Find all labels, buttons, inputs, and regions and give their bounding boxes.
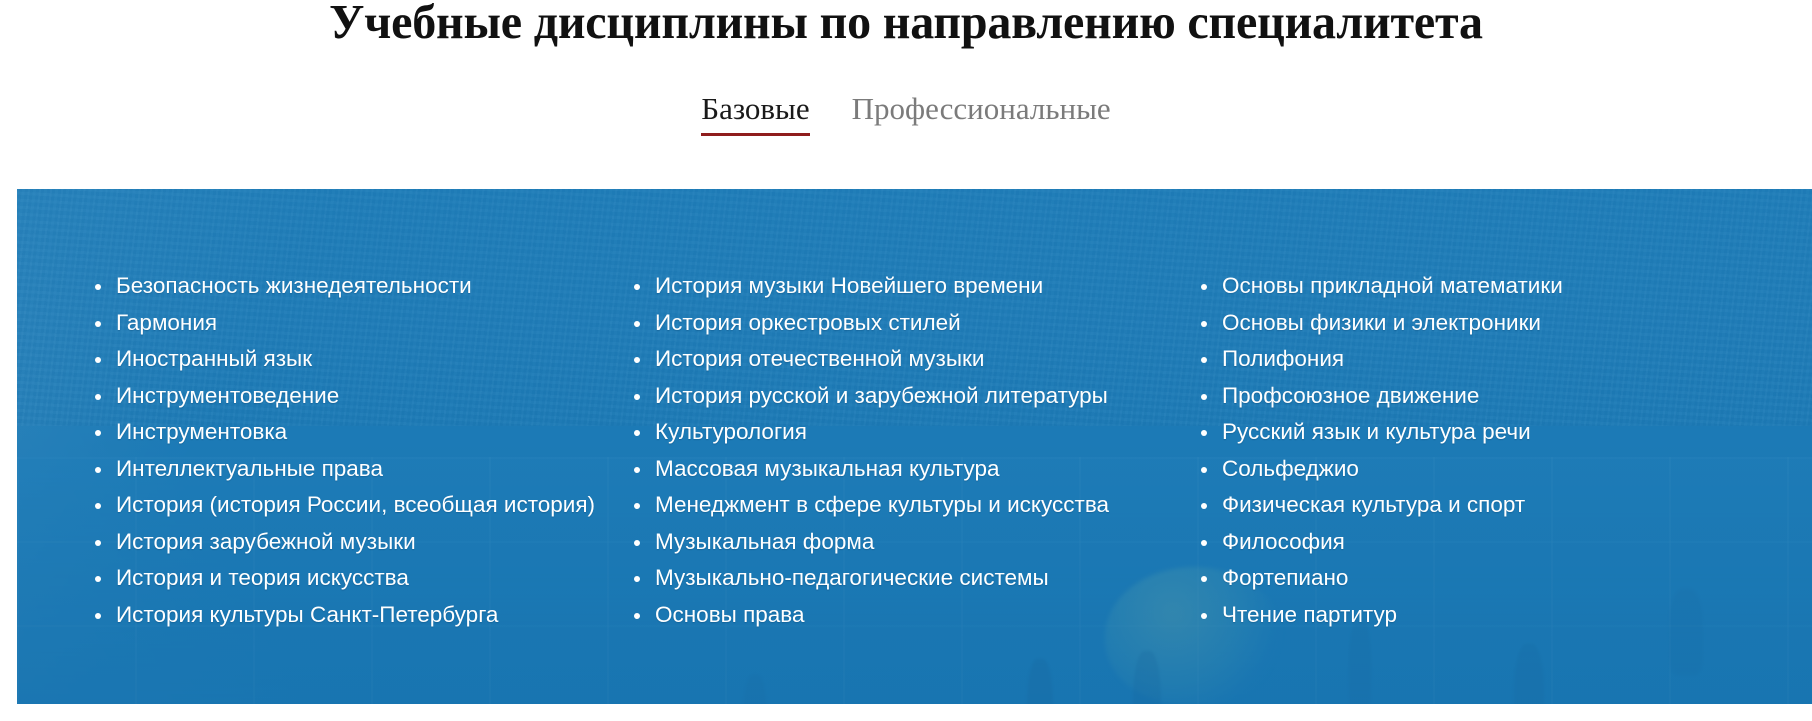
discipline-list-2: История музыки Новейшего времени История… — [634, 268, 1167, 633]
list-item[interactable]: Основы прикладной математики — [1201, 268, 1767, 305]
list-item[interactable]: История (история России, всеобщая истори… — [95, 487, 587, 524]
list-item[interactable]: Иностранный язык — [95, 341, 587, 378]
list-item[interactable]: Инструментоведение — [95, 378, 587, 415]
list-item[interactable]: Музыкально-педагогические системы — [634, 560, 1167, 597]
list-item[interactable]: Чтение партитур — [1201, 597, 1767, 634]
disciplines-columns: Безопасность жизнедеятельности Гармония … — [17, 189, 1812, 704]
list-item[interactable]: История оркестровых стилей — [634, 305, 1167, 342]
tab-professional[interactable]: Профессиональные — [852, 92, 1111, 136]
list-item[interactable]: Фортепиано — [1201, 560, 1767, 597]
list-item[interactable]: Инструментовка — [95, 414, 587, 451]
list-item[interactable]: Физическая культура и спорт — [1201, 487, 1767, 524]
list-item[interactable]: История зарубежной музыки — [95, 524, 587, 561]
discipline-category-tabs: Базовые Профессиональные — [0, 92, 1812, 136]
list-item[interactable]: Культурология — [634, 414, 1167, 451]
list-item[interactable]: История культуры Санкт-Петербурга — [95, 597, 587, 634]
list-item[interactable]: Сольфеджио — [1201, 451, 1767, 488]
list-item[interactable]: Массовая музыкальная культура — [634, 451, 1167, 488]
list-item[interactable]: Менеджмент в сфере культуры и искусства — [634, 487, 1167, 524]
list-item[interactable]: История музыки Новейшего времени — [634, 268, 1167, 305]
list-item[interactable]: История отечественной музыки — [634, 341, 1167, 378]
list-item[interactable]: Гармония — [95, 305, 587, 342]
discipline-list-3: Основы прикладной математики Основы физи… — [1201, 268, 1767, 633]
page-header: Учебные дисциплины по направлению специа… — [0, 0, 1812, 136]
list-item[interactable]: Безопасность жизнедеятельности — [95, 268, 587, 305]
disciplines-column-1: Безопасность жизнедеятельности Гармония … — [17, 268, 587, 704]
list-item[interactable]: Профсоюзное движение — [1201, 378, 1767, 415]
page-title: Учебные дисциплины по направлению специа… — [18, 0, 1794, 48]
list-item[interactable]: Интеллектуальные права — [95, 451, 587, 488]
list-item[interactable]: Философия — [1201, 524, 1767, 561]
list-item[interactable]: Основы физики и электроники — [1201, 305, 1767, 342]
list-item[interactable]: История русской и зарубежной литературы — [634, 378, 1167, 415]
list-item[interactable]: Музыкальная форма — [634, 524, 1167, 561]
list-item[interactable]: История и теория искусства — [95, 560, 587, 597]
list-item[interactable]: Русский язык и культура речи — [1201, 414, 1767, 451]
tab-basic[interactable]: Базовые — [701, 92, 809, 136]
list-item[interactable]: Основы права — [634, 597, 1167, 634]
disciplines-column-3: Основы прикладной математики Основы физи… — [1167, 268, 1767, 704]
disciplines-column-2: История музыки Новейшего времени История… — [587, 268, 1167, 704]
discipline-list-1: Безопасность жизнедеятельности Гармония … — [95, 268, 587, 633]
disciplines-banner: Безопасность жизнедеятельности Гармония … — [17, 189, 1812, 704]
list-item[interactable]: Полифония — [1201, 341, 1767, 378]
